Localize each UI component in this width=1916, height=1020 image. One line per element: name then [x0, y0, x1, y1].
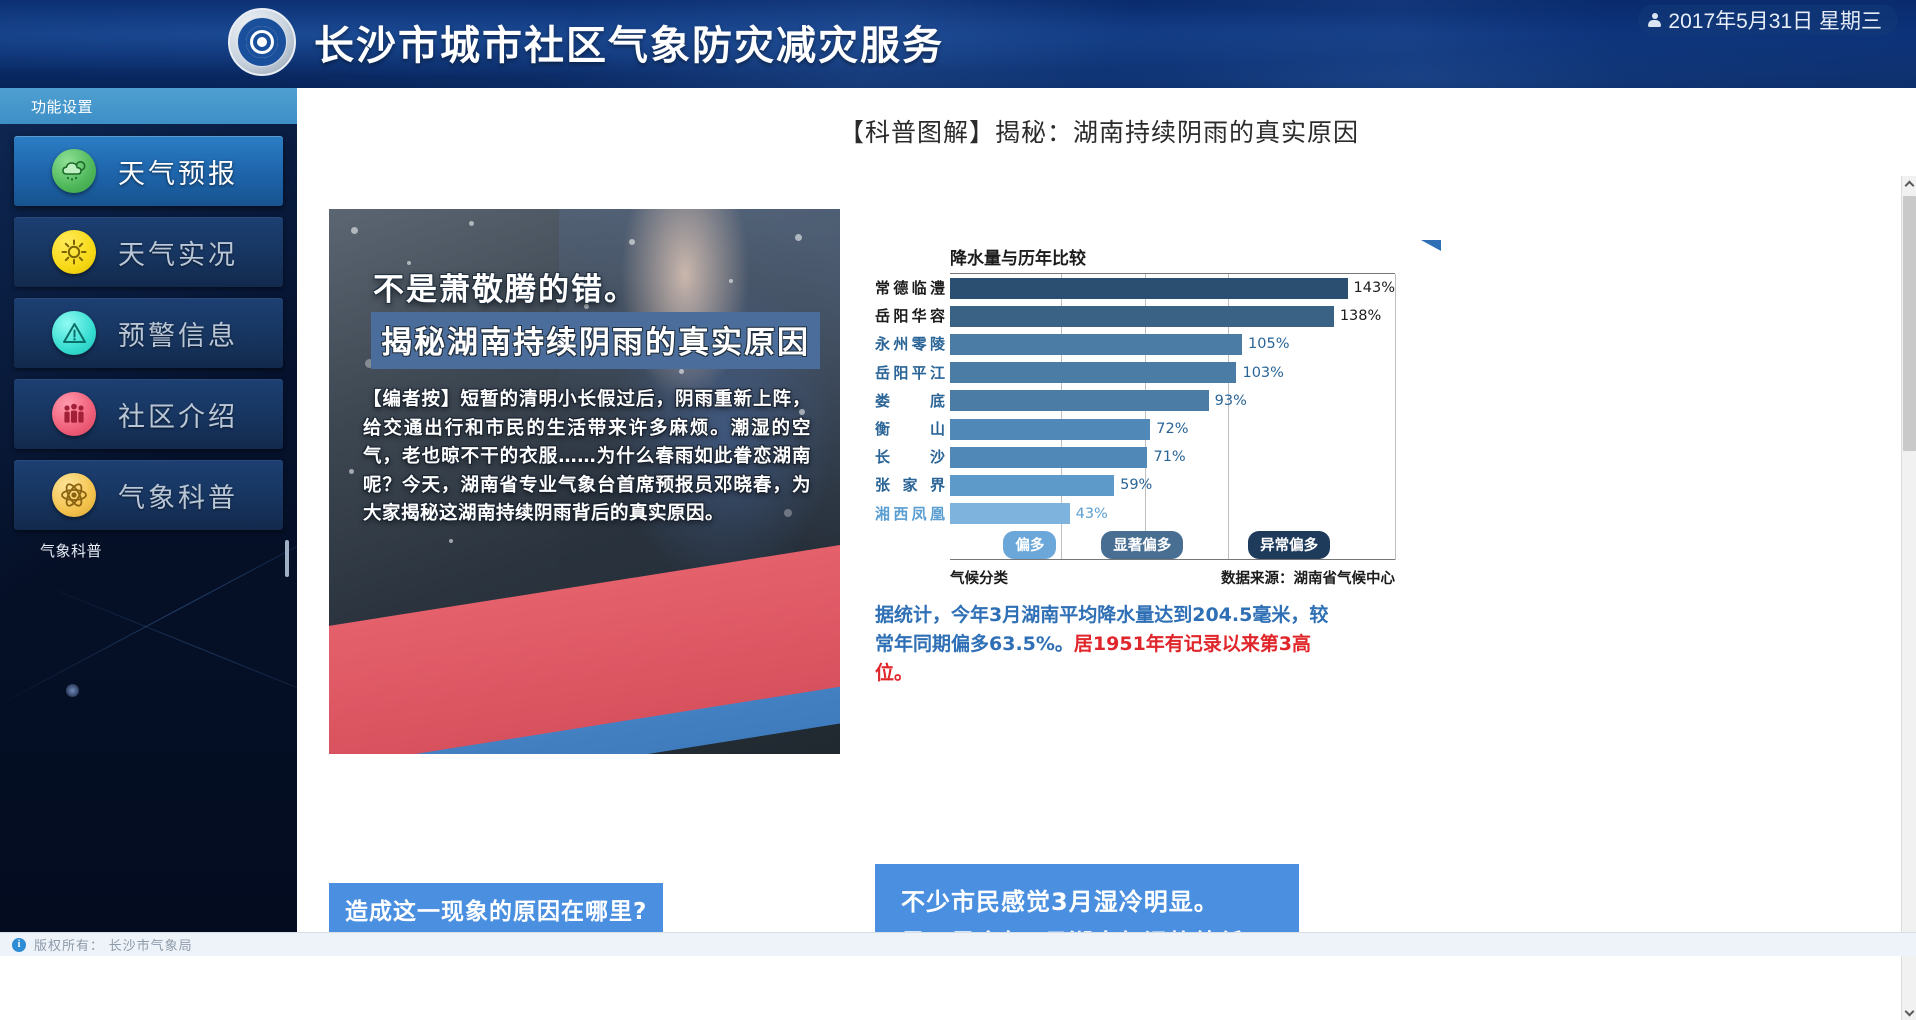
chart-legend-pill: 偏多	[1003, 531, 1056, 559]
chart-bar-row: 岳阳华容138%	[950, 302, 1395, 330]
precipitation-bar-chart: 降水量与历年比较 常德临澧143%岳阳华容138%永州零陵105%岳阳平江103…	[875, 244, 1395, 588]
chart-title: 降水量与历年比较	[950, 244, 1395, 269]
chart-bar-row: 岳阳平江103%	[950, 359, 1395, 387]
user-icon	[1648, 13, 1661, 28]
article-title: 【科普图解】揭秘：湖南持续阴雨的真实原因	[297, 113, 1901, 149]
page-scrollbar[interactable]	[1901, 176, 1916, 1020]
scrollbar-thumb[interactable]	[1903, 196, 1916, 451]
chart-bar-row: 衡 山72%	[950, 415, 1395, 443]
sun-icon	[52, 230, 96, 274]
chart-footer: 气候分类 数据来源：湖南省气候中心	[950, 567, 1395, 588]
chart-legend-pill: 显著偏多	[1101, 531, 1183, 559]
chart-category-label: 常德临澧	[875, 274, 945, 302]
chart-bars: 常德临澧143%岳阳华容138%永州零陵105%岳阳平江103%娄 底93%衡 …	[950, 274, 1395, 528]
sidebar: 功能设置 天气预报	[0, 88, 297, 932]
chart-bar	[950, 306, 1334, 327]
sidebar-item-label: 天气预报	[118, 152, 238, 191]
chart-bar	[950, 390, 1209, 411]
copyright-text: 版权所有： 长沙市气象局	[34, 935, 193, 954]
box-line-2: 是不是今年3月湖南气温格外低呢?	[901, 923, 1273, 932]
sidebar-item-live-weather[interactable]: 天气实况	[14, 217, 283, 287]
info-icon: i	[12, 938, 26, 952]
chart-bar-value: 103%	[1242, 365, 1283, 381]
chart-bar	[950, 334, 1242, 355]
chart-bar-row: 常德临澧143%	[950, 274, 1395, 302]
chart-gridline	[1395, 274, 1396, 560]
chart-bar	[950, 503, 1070, 524]
scrollbar-down-button[interactable]	[1902, 1005, 1916, 1020]
chart-bar-value: 59%	[1120, 477, 1152, 493]
cloud-rain-icon	[52, 149, 96, 193]
chart-bar	[950, 278, 1348, 299]
chart-bar-value: 138%	[1340, 308, 1381, 324]
chart-bar-value: 143%	[1354, 280, 1395, 296]
chart-plot-area: 常德临澧143%岳阳华容138%永州零陵105%岳阳平江103%娄 底93%衡 …	[950, 273, 1395, 560]
chevron-up-icon	[1905, 180, 1915, 190]
scrollbar-up-button[interactable]	[1902, 176, 1916, 191]
warning-triangle-icon	[52, 311, 96, 355]
sidebar-item-label: 预警信息	[118, 314, 238, 353]
chart-bar	[950, 419, 1150, 440]
atom-icon	[52, 473, 96, 517]
chart-category-label: 衡 山	[875, 415, 945, 443]
chart-category-label: 岳阳华容	[875, 302, 945, 330]
chart-bar	[950, 475, 1114, 496]
sidebar-decoration-dot	[66, 684, 79, 697]
chart-category-label: 永州零陵	[875, 330, 945, 358]
sidebar-item-weather-forecast[interactable]: 天气预报	[14, 136, 283, 206]
sidebar-nav-list: 天气预报 天气实况	[0, 124, 297, 563]
poster-headline-line-2: 揭秘湖南持续阴雨的真实原因	[371, 312, 820, 369]
poster-headline-line-1: 不是萧敬腾的错。	[373, 264, 637, 309]
chart-source: 数据来源：湖南省气候中心	[1221, 567, 1395, 588]
page-title: 长沙市城市社区气象防灾减灾服务	[314, 13, 944, 71]
cma-logo-icon	[228, 8, 296, 76]
chart-bar-value: 43%	[1076, 506, 1108, 522]
content-area: 【科普图解】揭秘：湖南持续阴雨的真实原因	[297, 88, 1901, 932]
chart-category-label: 张 家 界	[875, 471, 945, 499]
date-text: 2017年5月31日 星期三	[1668, 5, 1882, 35]
chevron-down-icon	[1905, 1006, 1915, 1016]
logo-cloud-glyph	[246, 26, 278, 58]
poster-body-text: 【编者按】短暂的清明小长假过后，阴雨重新上阵，给交通出行和市民的生活带来许多麻烦…	[363, 386, 811, 529]
chart-bar-value: 71%	[1153, 449, 1185, 465]
chart-category-label: 娄 底	[875, 387, 945, 415]
sidebar-subitem-meteorology-science[interactable]: 气象科普	[14, 541, 283, 563]
chart-xlabel: 气候分类	[950, 567, 1008, 588]
sidebar-item-label: 社区介绍	[118, 395, 238, 434]
app-header: 长沙市城市社区气象防灾减灾服务 2017年5月31日 星期三	[0, 0, 1916, 88]
people-group-icon	[52, 392, 96, 436]
chart-bar-value: 93%	[1215, 393, 1247, 409]
sidebar-panel-title: 功能设置	[0, 88, 297, 124]
chart-bar-row: 永州零陵105%	[950, 330, 1395, 358]
sidebar-item-meteorology-science[interactable]: 气象科普	[14, 460, 283, 530]
box-line-1: 不少市民感觉3月湿冷明显。	[901, 882, 1273, 923]
status-bar: i 版权所有： 长沙市气象局	[0, 932, 1916, 956]
chart-category-label: 长 沙	[875, 443, 945, 471]
chart-bar-row: 娄 底93%	[950, 387, 1395, 415]
chart-legend-pill: 异常偏多	[1248, 531, 1330, 559]
chart-category-label: 湘西凤凰	[875, 500, 945, 528]
article-poster-image: 不是萧敬腾的错。 揭秘湖南持续阴雨的真实原因 【编者按】短暂的清明小长假过后，阴…	[329, 209, 840, 754]
body-area: 功能设置 天气预报	[0, 88, 1916, 932]
chart-bar-value: 105%	[1248, 336, 1289, 352]
header-brand: 长沙市城市社区气象防灾减灾服务	[228, 8, 944, 76]
chart-note: 据统计，今年3月湖南平均降水量达到204.5毫米，较常年同期偏多63.5%。居1…	[875, 601, 1345, 688]
chart-corner-triangle-icon	[1421, 240, 1441, 251]
section-band-cause: 造成这一现象的原因在哪里?	[329, 883, 663, 932]
chart-bar-row: 张 家 界59%	[950, 471, 1395, 499]
sidebar-item-alerts[interactable]: 预警信息	[14, 298, 283, 368]
chart-bar	[950, 362, 1236, 383]
sidebar-scroll-indicator[interactable]	[285, 540, 289, 577]
chart-bar-value: 72%	[1156, 421, 1188, 437]
sidebar-item-community-intro[interactable]: 社区介绍	[14, 379, 283, 449]
chart-bar-row: 长 沙71%	[950, 443, 1395, 471]
chart-bar-row: 湘西凤凰43%	[950, 500, 1395, 528]
chart-legend: 偏多显著偏多异常偏多	[950, 530, 1395, 560]
sidebar-item-label: 气象科普	[118, 476, 238, 515]
date-display: 2017年5月31日 星期三	[1638, 5, 1898, 35]
section-box-temperature-question: 不少市民感觉3月湿冷明显。 是不是今年3月湖南气温格外低呢?	[875, 864, 1299, 932]
sidebar-item-label: 天气实况	[118, 233, 238, 272]
chart-bar	[950, 447, 1147, 468]
chart-category-label: 岳阳平江	[875, 359, 945, 387]
